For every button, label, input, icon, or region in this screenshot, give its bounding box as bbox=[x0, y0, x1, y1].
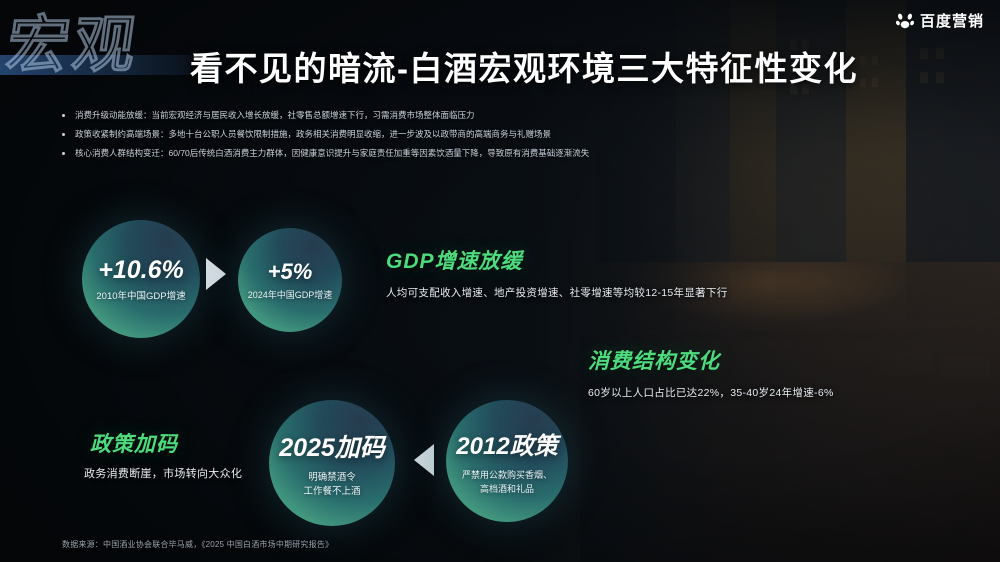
section-heading-policy: 政策加码 bbox=[90, 428, 178, 458]
stat-caption: 严禁用公款购买香烟、 高档酒和礼品 bbox=[462, 468, 552, 496]
stat-circle-policy-2025: 2025加码 明确禁酒令 工作餐不上酒 bbox=[269, 400, 395, 526]
stat-circle-gdp-2024: +5% 2024年中国GDP增速 bbox=[238, 228, 342, 332]
baidu-logo-label: 百度营销 bbox=[920, 10, 984, 31]
bullet-text: 消费升级动能放缓：当前宏观经济与居民收入增长放缓，社零售总额增速下行，习需消费市… bbox=[75, 106, 475, 125]
bullet-list: 消费升级动能放缓：当前宏观经济与居民收入增长放缓，社零售总额增速下行，习需消费市… bbox=[62, 106, 942, 163]
bullet-text: 政策收紧制约高端场景：多地十台公职人员餐饮限制措施，政务相关消费明显收缩，进一步… bbox=[75, 125, 551, 144]
stat-value: 2012政策 bbox=[456, 426, 557, 461]
bullet-dot-icon bbox=[62, 152, 65, 155]
stat-circle-policy-2012: 2012政策 严禁用公款购买香烟、 高档酒和礼品 bbox=[446, 400, 568, 522]
stat-caption: 明确禁酒令 工作餐不上酒 bbox=[303, 471, 360, 499]
bullet-text: 核心消费人群结构变迁：60/70后传统白酒消费主力群体，因健康意识提升与家庭责任… bbox=[75, 144, 589, 163]
bullet-item: 政策收紧制约高端场景：多地十台公职人员餐饮限制措施，政务相关消费明显收缩，进一步… bbox=[62, 125, 942, 144]
section-description-consume: 60岁以上人口占比已达22%，35-40岁24年增速-6% bbox=[588, 385, 834, 400]
stat-caption-line1: 明确禁酒令 bbox=[308, 472, 356, 483]
bullet-item: 消费升级动能放缓：当前宏观经济与居民收入增长放缓，社零售总额增速下行，习需消费市… bbox=[62, 106, 942, 125]
stat-value: 2025加码 bbox=[279, 428, 385, 464]
bullet-dot-icon bbox=[62, 114, 65, 117]
watermark-text: 宏观 bbox=[2, 0, 147, 84]
data-source-footer: 数据来源：中国酒业协会联合毕马威，《2025 中国白酒市场中期研究报告》 bbox=[62, 539, 333, 550]
slide-root: 宏观 百度营销 看不见的暗流-白酒宏观环境三大特征性变化 消费升级动能放缓：当前… bbox=[0, 0, 1000, 562]
stat-caption-line1: 严禁用公款购买香烟、 bbox=[462, 470, 552, 480]
stat-value: +5% bbox=[268, 259, 313, 285]
bullet-dot-icon bbox=[62, 133, 65, 136]
section-description-gdp: 人均可支配收入增速、地产投资增速、社零增速等均较12-15年显著下行 bbox=[386, 285, 728, 300]
stat-caption-line2: 工作餐不上酒 bbox=[303, 486, 360, 497]
page-title: 看不见的暗流-白酒宏观环境三大特征性变化 bbox=[190, 42, 858, 90]
bullet-item: 核心消费人群结构变迁：60/70后传统白酒消费主力群体，因健康意识提升与家庭责任… bbox=[62, 144, 942, 163]
section-heading-consume: 消费结构变化 bbox=[588, 345, 720, 375]
stat-caption-line2: 高档酒和礼品 bbox=[480, 484, 534, 494]
stat-caption: 2010年中国GDP增速 bbox=[96, 288, 185, 302]
section-description-policy: 政务消费断崖，市场转向大众化 bbox=[84, 465, 242, 481]
stat-caption: 2024年中国GDP增速 bbox=[248, 288, 333, 301]
section-heading-gdp: GDP增速放缓 bbox=[386, 245, 523, 275]
baidu-logo: 百度营销 bbox=[896, 10, 984, 31]
baidu-paw-icon bbox=[896, 12, 914, 30]
arrow-left-icon bbox=[414, 444, 434, 476]
stat-value: +10.6% bbox=[98, 256, 184, 285]
stat-circle-gdp-2010: +10.6% 2010年中国GDP增速 bbox=[82, 220, 200, 338]
arrow-right-icon bbox=[206, 258, 226, 290]
